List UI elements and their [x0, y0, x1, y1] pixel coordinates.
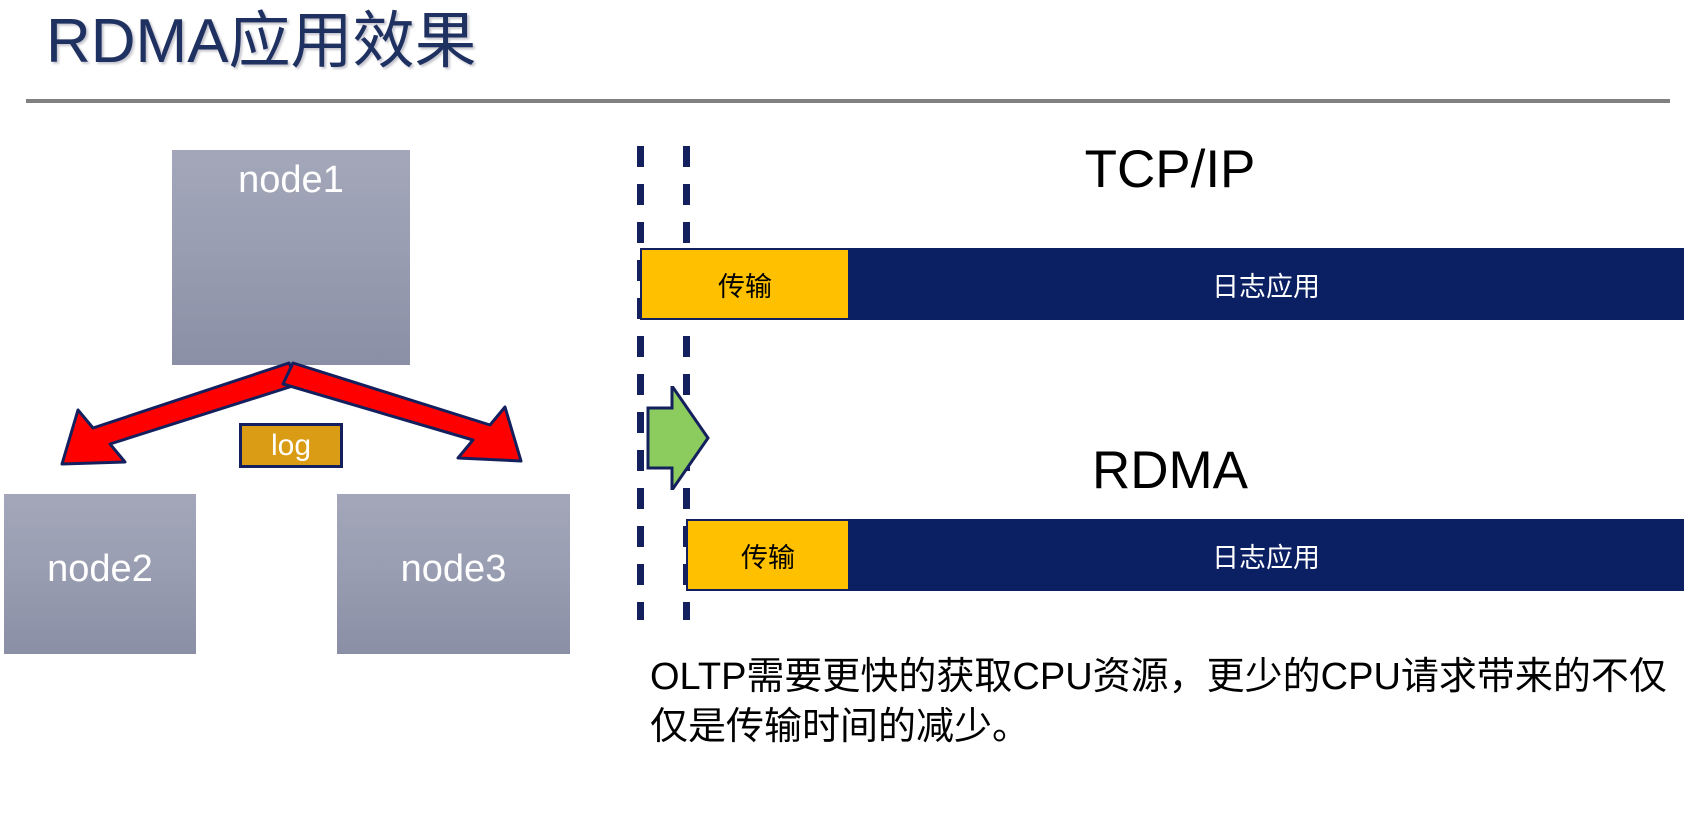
segment-log-application-label: 日志应用 [1212, 265, 1320, 304]
segment-log-application-tcpip: 日志应用 [848, 248, 1684, 320]
protocol-label-rdma: RDMA [700, 440, 1640, 501]
node3-label: node3 [401, 548, 507, 590]
segment-log-application-rdma: 日志应用 [848, 519, 1684, 591]
segment-transfer-label: 传输 [741, 536, 795, 575]
node-box-node2: node2 [4, 494, 196, 654]
node2-label: node2 [47, 548, 153, 590]
segment-transfer-label: 传输 [718, 265, 772, 304]
timing-bar-rdma: 传输 日志应用 [686, 519, 1684, 591]
segment-transfer-rdma: 传输 [686, 519, 848, 591]
green-right-arrow-shape [648, 386, 708, 490]
segment-transfer-tcpip: 传输 [640, 248, 848, 320]
timing-bar-tcpip: 传输 日志应用 [640, 248, 1684, 320]
log-label: log [271, 429, 311, 462]
node-box-node1: node1 [172, 150, 410, 365]
protocol-label-tcpip: TCP/IP [700, 139, 1640, 200]
slide-canvas: RDMA应用效果 node1 log node2 node3 TCP/IP 传输… [0, 0, 1696, 826]
node1-label: node1 [238, 159, 344, 201]
segment-log-application-label: 日志应用 [1212, 536, 1320, 575]
page-title: RDMA应用效果 [46, 2, 477, 82]
caption-text: OLTP需要更快的获取CPU资源，更少的CPU请求带来的不仅仅是传输时间的减少。 [650, 652, 1670, 752]
guide-dashed-line-start [637, 146, 644, 620]
node-box-node3: node3 [337, 494, 570, 654]
title-divider [26, 99, 1670, 103]
log-box: log [239, 423, 343, 468]
